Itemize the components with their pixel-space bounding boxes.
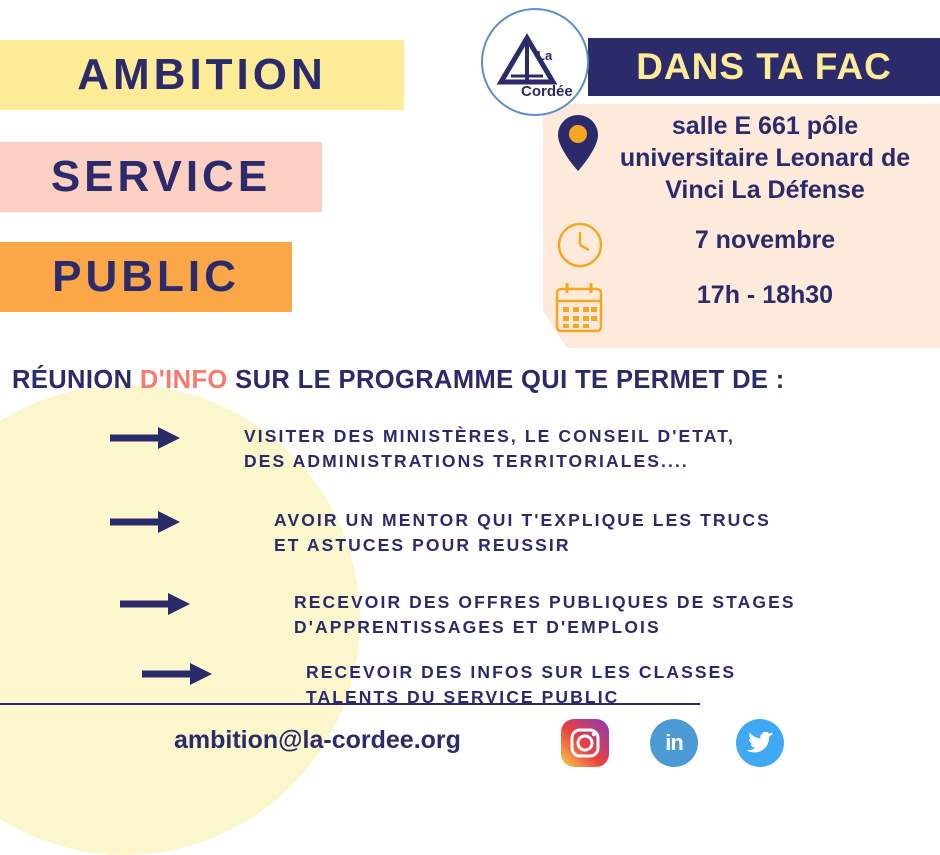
headline-part2: SUR LE PROGRAMME QUI TE PERMET DE : — [228, 366, 785, 394]
list-item: RECEVOIR DES OFFRES PUBLIQUES DE STAGES … — [118, 590, 796, 641]
list-item-text: VISITER DES MINISTÈRES, LE CONSEIL D'ETA… — [244, 424, 735, 475]
banner-service-label: SERVICE — [51, 152, 271, 202]
banner-ambition: AMBITION — [0, 40, 404, 110]
twitter-icon[interactable] — [736, 719, 784, 767]
bullet-3-line-1: RECEVOIR DES OFFRES PUBLIQUES DE STAGES — [294, 592, 796, 612]
banner-public-label: PUBLIC — [52, 252, 240, 302]
list-item-text: RECEVOIR DES OFFRES PUBLIQUES DE STAGES … — [294, 590, 796, 641]
location-pin-icon — [556, 113, 600, 178]
twitter-bird-icon — [745, 728, 775, 758]
event-time: 17h - 18h30 — [600, 281, 930, 310]
banner-service: SERVICE — [0, 142, 322, 212]
arrow-right-icon — [140, 660, 214, 693]
headline-part1: RÉUNION — [12, 366, 140, 394]
bullet-1-line-2: DES ADMINISTRATIONS TERRITORIALES.... — [244, 451, 689, 471]
contact-email[interactable]: ambition@la-cordee.org — [174, 726, 461, 755]
header-banner: DANS TA FAC — [588, 38, 940, 96]
headline-highlight: D'INFO — [140, 366, 228, 394]
banner-public: PUBLIC — [0, 242, 292, 312]
list-item: AVOIR UN MENTOR QUI T'EXPLIQUE LES TRUCS… — [108, 508, 771, 559]
event-info-text: salle E 661 pôle universitaire Leonard d… — [600, 110, 930, 310]
instagram-icon[interactable] — [561, 719, 609, 767]
bullet-4-line-1: RECEVOIR DES INFOS SUR LES CLASSES — [306, 662, 736, 682]
bullet-2-line-2: ET ASTUCES POUR REUSSIR — [274, 535, 571, 555]
headline: RÉUNION D'INFO SUR LE PROGRAMME QUI TE P… — [12, 366, 785, 395]
page-title: DANS TA FAC — [636, 46, 892, 88]
bullet-3-line-2: D'APPRENTISSAGES ET D'EMPLOIS — [294, 617, 661, 637]
bullet-1-line-1: VISITER DES MINISTÈRES, LE CONSEIL D'ETA… — [244, 426, 735, 446]
svg-text:La: La — [537, 48, 553, 63]
linkedin-icon[interactable]: in — [650, 719, 698, 767]
divider — [0, 703, 700, 705]
event-location: salle E 661 pôle universitaire Leonard d… — [600, 110, 930, 206]
logo-mountain-icon: La Cordée — [487, 14, 583, 110]
event-date: 7 novembre — [600, 226, 930, 255]
list-item: VISITER DES MINISTÈRES, LE CONSEIL D'ETA… — [108, 424, 735, 475]
arrow-right-icon — [108, 508, 182, 541]
list-item-text: AVOIR UN MENTOR QUI T'EXPLIQUE LES TRUCS… — [274, 508, 771, 559]
arrow-right-icon — [118, 590, 192, 623]
banner-ambition-label: AMBITION — [77, 50, 327, 100]
linkedin-label: in — [665, 730, 683, 756]
bullet-2-line-1: AVOIR UN MENTOR QUI T'EXPLIQUE LES TRUCS — [274, 510, 771, 530]
arrow-right-icon — [108, 424, 182, 457]
clock-icon — [556, 221, 604, 274]
svg-text:Cordée: Cordée — [521, 83, 573, 100]
la-cordee-logo: La Cordée — [481, 8, 589, 116]
